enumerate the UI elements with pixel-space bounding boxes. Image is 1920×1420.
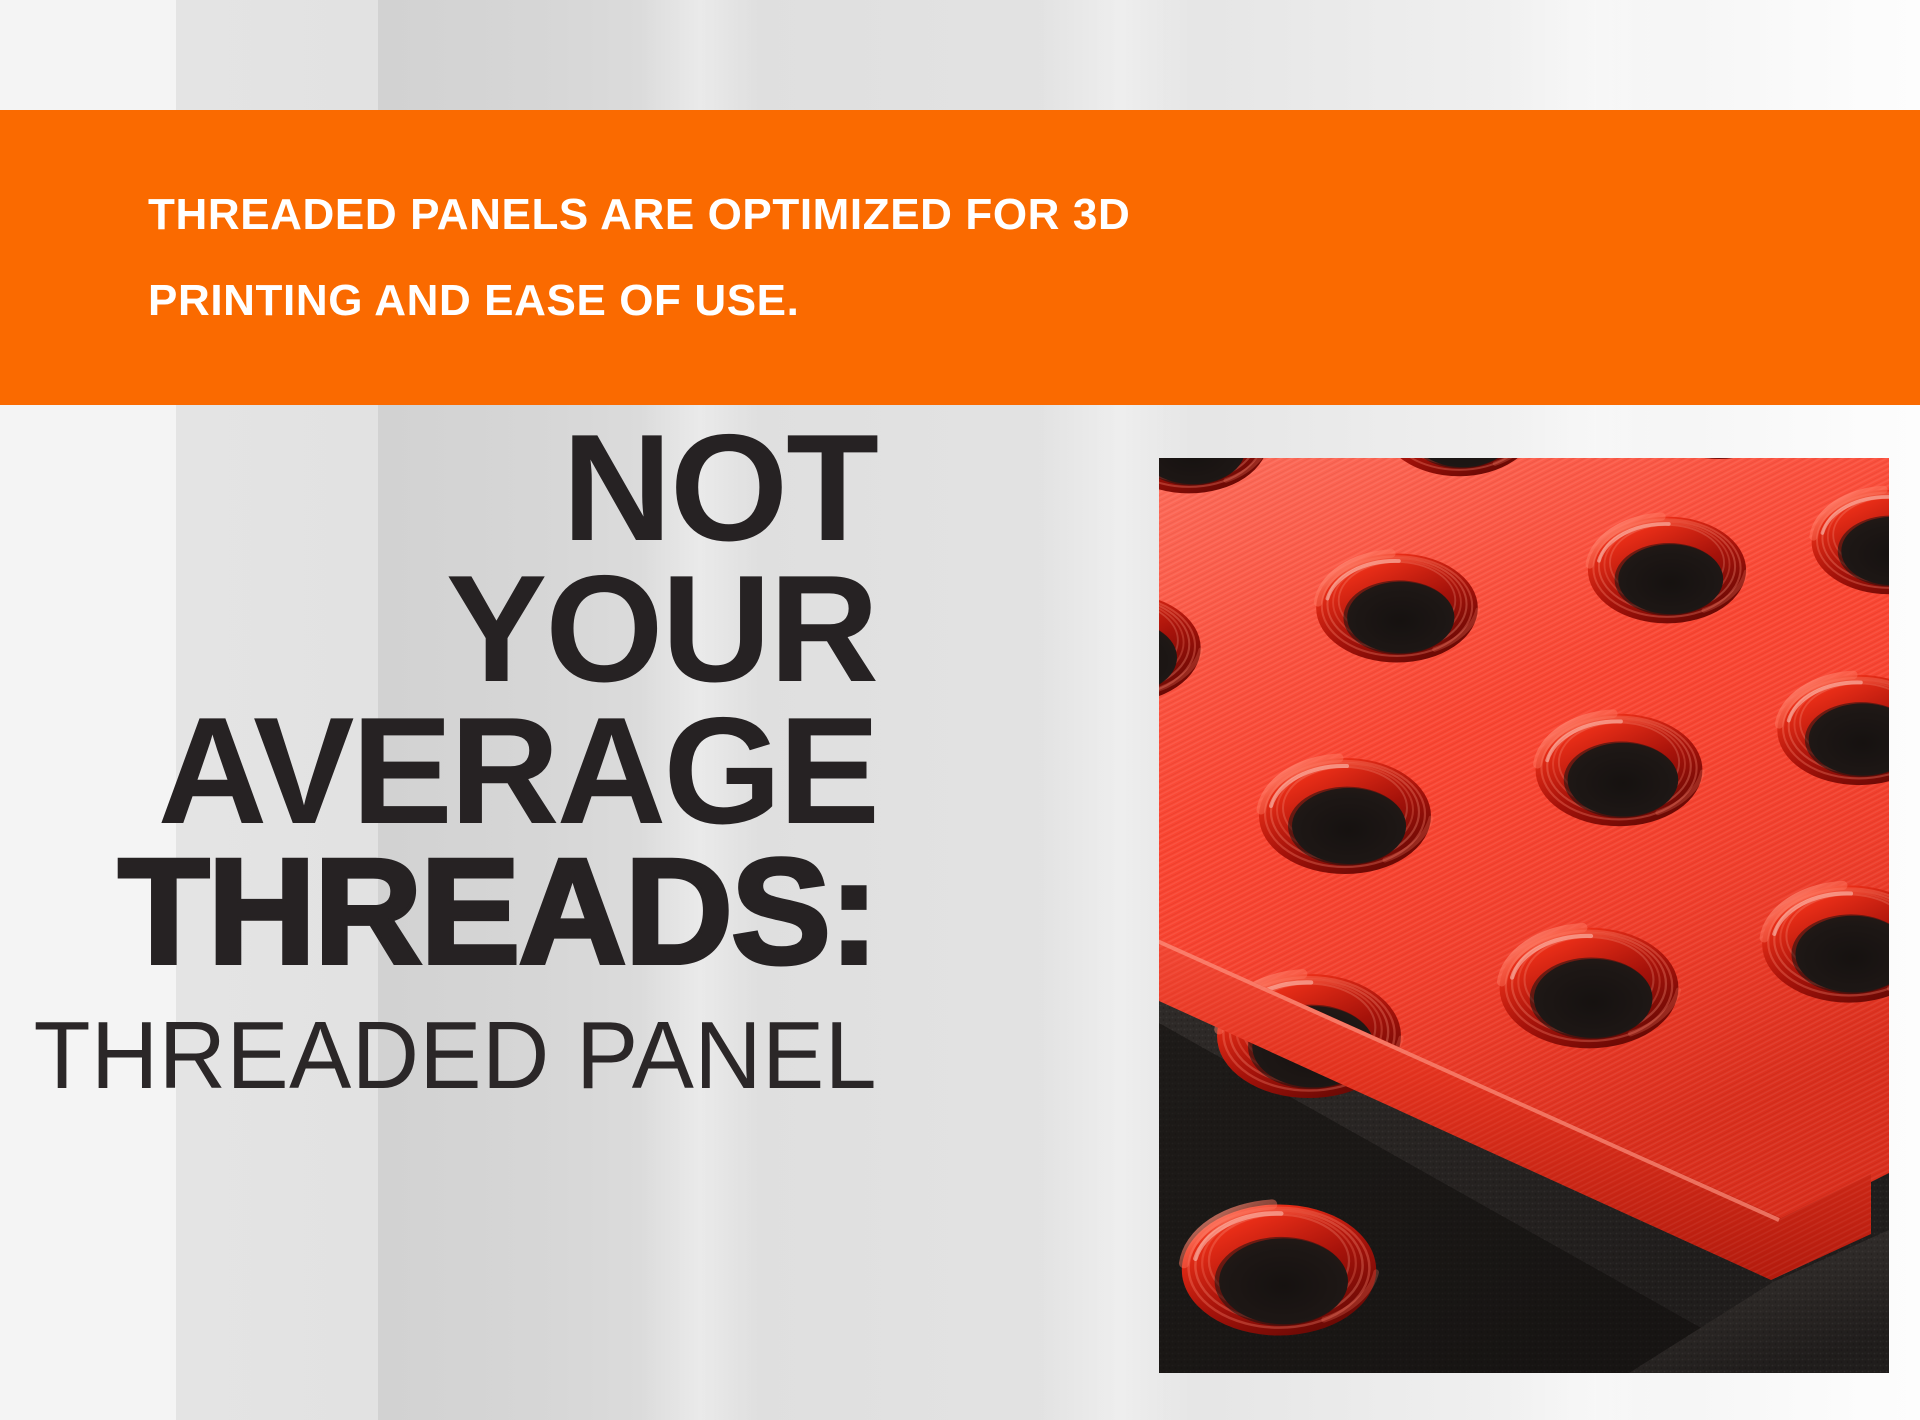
headline-subtitle: THREADED PANEL (26, 1008, 877, 1104)
poster-canvas: THREADED PANELS ARE OPTIMIZED FOR 3D PRI… (0, 0, 1920, 1420)
threaded-hole (1588, 517, 1746, 624)
threaded-hole (1500, 928, 1679, 1049)
product-photo (1159, 458, 1889, 1373)
headline-line-threads: THREADS: (0, 842, 877, 982)
banner-line-1: THREADED PANELS ARE OPTIMIZED FOR 3D (148, 193, 1920, 237)
threaded-panel-illustration (1159, 458, 1889, 1373)
threaded-hole (1259, 758, 1431, 874)
headline-block: NOT YOUR AVERAGE THREADS: THREADED PANEL (0, 404, 905, 1104)
banner-line-2: PRINTING AND EASE OF USE. (148, 279, 1920, 323)
threaded-hole (1182, 1204, 1376, 1335)
threaded-hole (1316, 553, 1478, 662)
headline-line-average: AVERAGE (0, 701, 877, 842)
orange-banner: THREADED PANELS ARE OPTIMIZED FOR 3D PRI… (0, 110, 1920, 405)
headline-line-not: NOT (0, 418, 877, 559)
headline-line-your: YOUR (0, 559, 877, 700)
threaded-hole (1536, 714, 1703, 827)
